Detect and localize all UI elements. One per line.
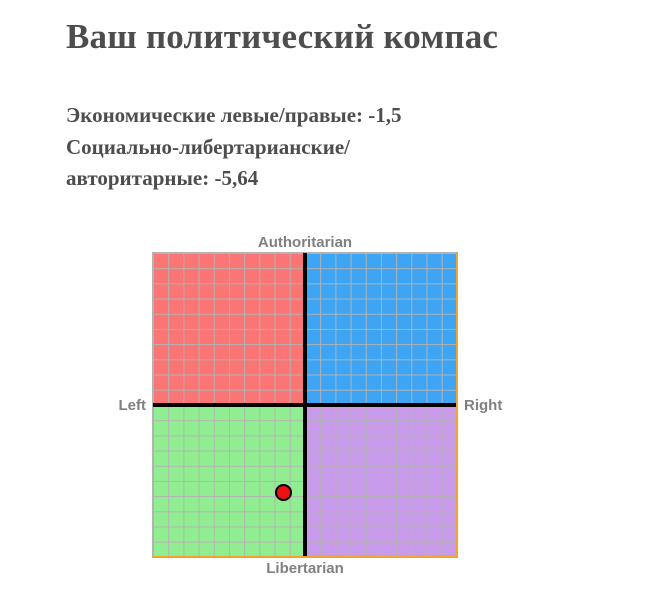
compass-label-libertarian: Libertarian (152, 560, 458, 577)
compass-label-right: Right (464, 397, 502, 414)
quadrant-authoritarian-right (305, 253, 457, 405)
compass-label-authoritarian: Authoritarian (152, 234, 458, 251)
compass-plot-area (152, 252, 458, 558)
social-score-line-1: Социально-либертарианские/ (66, 132, 402, 164)
quadrant-libertarian-left (153, 405, 305, 557)
quadrant-libertarian-right (305, 405, 457, 557)
result-dot-marker (275, 484, 292, 501)
social-score-line-2: авторитарные: -5,64 (66, 163, 402, 195)
quadrant-authoritarian-left (153, 253, 305, 405)
horizontal-axis (153, 403, 456, 407)
compass-label-left: Left (0, 397, 146, 414)
score-summary: Экономические левые/правые: -1,5 Социаль… (66, 100, 402, 195)
page-title: Ваш политический компас (66, 16, 498, 58)
political-compass-chart (152, 252, 458, 558)
economic-score-line: Экономические левые/правые: -1,5 (66, 100, 402, 132)
